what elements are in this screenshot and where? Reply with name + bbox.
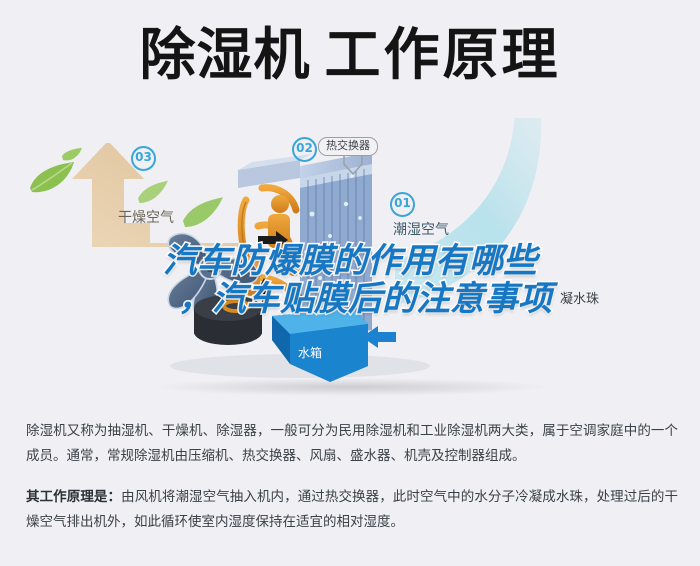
- article-body: 除湿机又称为抽湿机、干燥机、除湿器，一般可分为民用除湿机和工业除湿机两大类，属于…: [26, 418, 678, 534]
- page-title-part-a: 除湿机: [140, 23, 311, 88]
- label-humid-air: 潮湿空气: [393, 219, 449, 239]
- paragraph-1: 除湿机又称为抽湿机、干燥机、除湿器，一般可分为民用除湿机和工业除湿机两大类，属于…: [26, 418, 678, 468]
- dehumidifier-diagram: 03 02 01 03 热交换器 干燥空气 潮湿空气 凝水珠 水箱 从上部出风口…: [0, 118, 700, 393]
- label-dry-air: 干燥空气: [118, 207, 174, 227]
- callout-pointer-icon: [340, 154, 366, 176]
- page-title-part-b: 工作原理: [325, 23, 561, 88]
- paragraph-2: 其工作原理是：由风机将潮湿空气抽入机内，通过热交换器，此时空气中的水分子冷凝成水…: [26, 484, 678, 534]
- badge-step-01: 01: [390, 192, 415, 217]
- label-water-tank: 水箱: [298, 344, 322, 361]
- page-title: 除湿机工作原理: [0, 28, 700, 84]
- callout-heat-exchanger: 热交换器: [318, 137, 378, 156]
- paragraph-2-lead: 其工作原理是：: [26, 489, 121, 504]
- page-root: 除湿机工作原理: [0, 0, 700, 566]
- paragraph-2-rest: 由风机将潮湿空气抽入机内，通过热交换器，此时空气中的水分子冷凝成水珠，处理过后的…: [26, 489, 678, 529]
- badge-step-02: 02: [292, 137, 317, 162]
- label-condensed-drops: 凝水珠: [560, 288, 599, 307]
- badge-step-03-left: 03: [131, 146, 156, 171]
